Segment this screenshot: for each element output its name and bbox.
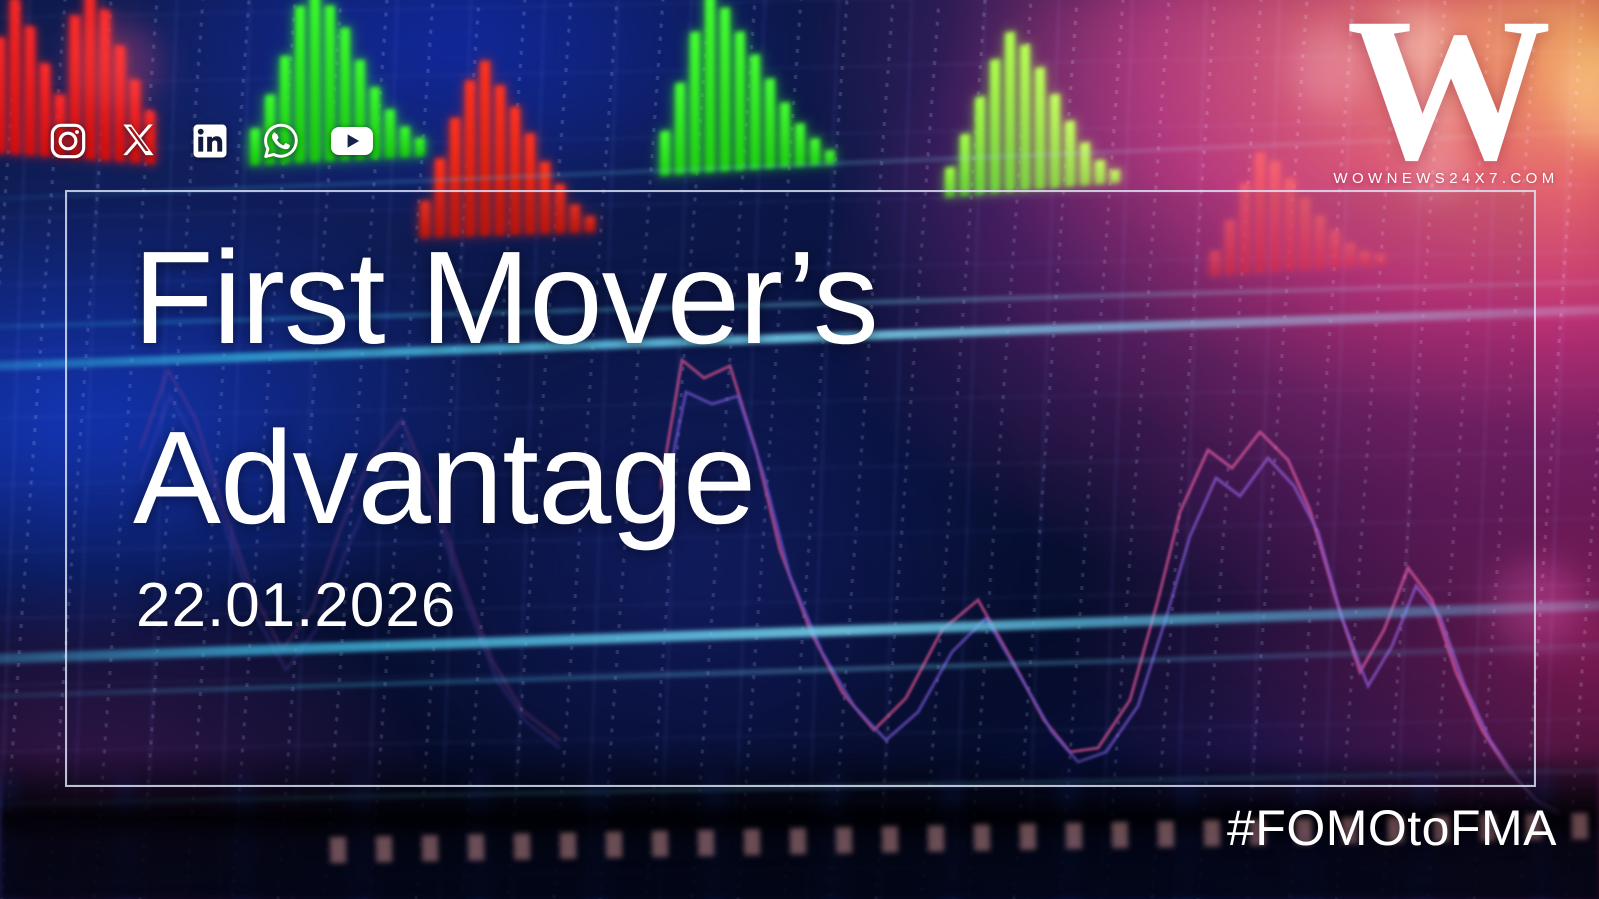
linkedin-icon[interactable]	[188, 119, 232, 163]
brand-website: WOWNEWS24X7.COM	[1321, 170, 1571, 187]
instagram-icon[interactable]	[46, 119, 90, 163]
social-media-banner: First Mover’s Advantage 22.01.2026 #FOMO…	[0, 0, 1599, 899]
whatsapp-icon[interactable]	[259, 119, 303, 163]
page-title: First Mover’s Advantage	[133, 208, 878, 568]
wow-w-logo-icon: W	[1321, 4, 1571, 176]
x-twitter-icon[interactable]	[117, 119, 161, 163]
brand-logo: W WOWNEWS24X7.COM	[1321, 4, 1571, 187]
youtube-icon[interactable]	[330, 119, 374, 163]
publication-date: 22.01.2026	[136, 575, 456, 637]
social-links	[46, 119, 374, 163]
campaign-hashtag: #FOMOtoFMA	[1227, 799, 1557, 857]
